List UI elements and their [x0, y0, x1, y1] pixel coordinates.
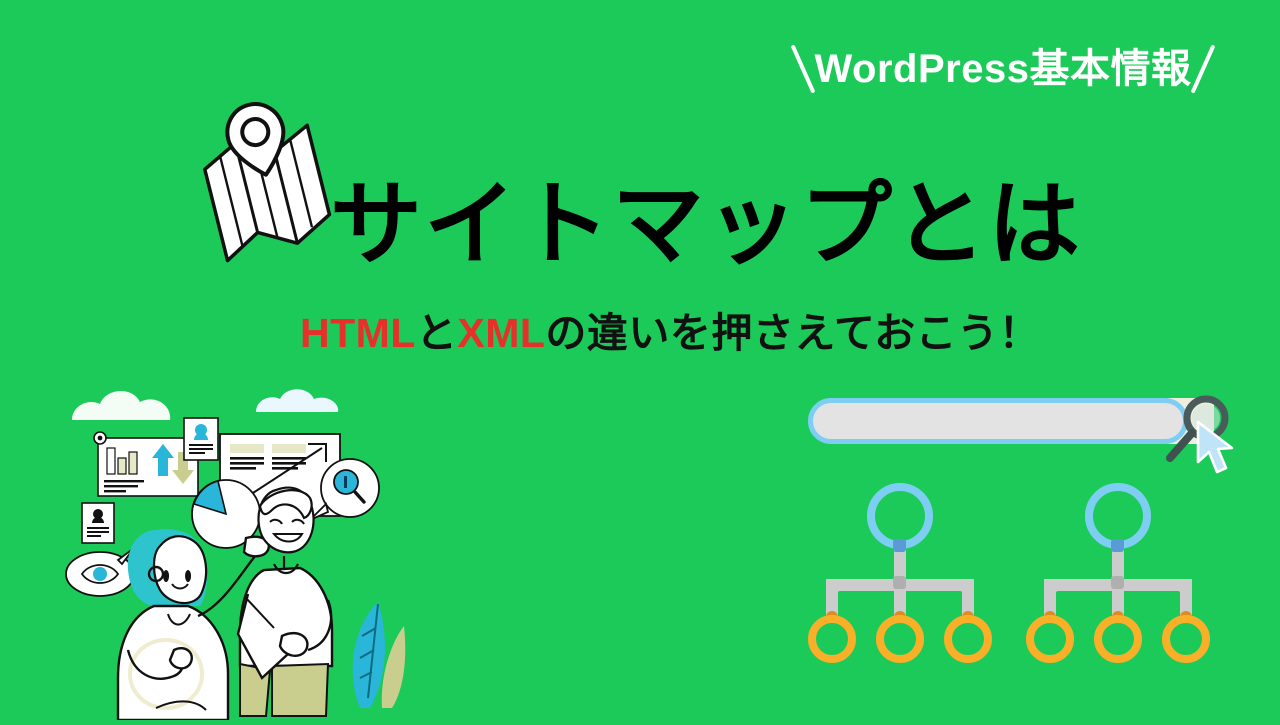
subtitle-rest: の違いを押さえておこう！ — [545, 310, 1040, 356]
plant-leaf-icon — [353, 602, 406, 708]
subtitle-highlight-xml: XML — [457, 310, 545, 356]
sitemap-child-node[interactable] — [1026, 615, 1074, 663]
search-bar[interactable] — [808, 398, 1188, 444]
sitemap-child-node[interactable] — [1094, 615, 1142, 663]
joint-parent — [893, 539, 906, 552]
people-with-charts-illustration — [60, 378, 410, 720]
badge-wordpress-basics: WordPress基本情報 — [768, 38, 1238, 100]
eye-speech-bubble-icon — [66, 548, 134, 596]
page-title: サイトマップとは — [330, 170, 1030, 280]
bar-chart-card — [94, 432, 198, 496]
slash-right-icon — [1191, 44, 1216, 93]
sitemap-tree-1 — [800, 483, 1000, 663]
sitemap-tree-2 — [1018, 483, 1218, 663]
joint-center — [893, 576, 906, 589]
cloud-icon — [72, 391, 170, 420]
profile-card — [82, 503, 114, 543]
poster-canvas: WordPress基本情報 サイトマップとは HTMLとXMLの違いを押さえてお… — [0, 0, 1280, 720]
joint-center — [1111, 576, 1124, 589]
page-subtitle: HTMLとXMLの違いを押さえておこう！ — [300, 305, 1040, 361]
sitemap-child-node[interactable] — [876, 615, 924, 663]
sitemap-child-node[interactable] — [1162, 615, 1210, 663]
mouse-cursor-icon — [1190, 418, 1242, 482]
subtitle-highlight-html: HTML — [300, 310, 416, 356]
folded-map-icon — [196, 96, 346, 266]
subtitle-conjunction: と — [416, 310, 458, 356]
sitemap-search-illustration — [790, 388, 1260, 678]
slash-left-icon — [790, 44, 815, 93]
cloud-icon — [256, 389, 338, 412]
joint-parent — [1111, 539, 1124, 552]
search-input[interactable] — [808, 398, 1188, 444]
profile-card — [184, 418, 218, 460]
badge-label: WordPress基本情報 — [815, 49, 1192, 89]
sitemap-child-node[interactable] — [808, 615, 856, 663]
sitemap-child-node[interactable] — [944, 615, 992, 663]
